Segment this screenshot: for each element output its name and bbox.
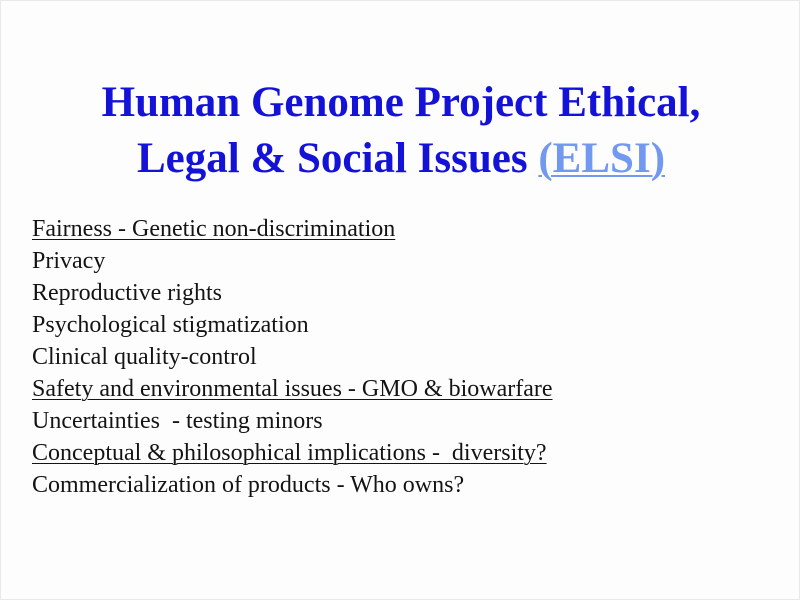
slide-title: Human Genome Project Ethical, Legal & So…	[1, 74, 800, 187]
list-item: Safety and environmental issues - GMO & …	[32, 373, 752, 405]
list-item-label: Fairness - Genetic non-discrimination	[32, 216, 395, 242]
list-item-label: Clinical quality-control	[32, 344, 257, 370]
elsi-link[interactable]: (ELSI)	[538, 135, 665, 182]
slide-title-line-2: Legal & Social Issues (ELSI)	[1, 130, 800, 187]
issues-list: Fairness - Genetic non-discrimination Pr…	[32, 213, 752, 501]
list-item-label: Privacy	[32, 248, 105, 274]
list-item: Uncertainties - testing minors	[32, 405, 752, 437]
list-item: Reproductive rights	[32, 277, 752, 309]
list-item: Commercialization of products - Who owns…	[32, 469, 752, 501]
list-item-label: Reproductive rights	[32, 280, 222, 306]
list-item-label: Uncertainties - testing minors	[32, 408, 323, 434]
list-item: Privacy	[32, 245, 752, 277]
list-item: Psychological stigmatization	[32, 309, 752, 341]
list-item-label: Conceptual & philosophical implications …	[32, 440, 547, 466]
list-item-label: Safety and environmental issues - GMO & …	[32, 376, 553, 402]
list-item: Fairness - Genetic non-discrimination	[32, 213, 752, 245]
list-item-label: Psychological stigmatization	[32, 312, 309, 338]
list-item: Clinical quality-control	[32, 341, 752, 373]
slide-title-line-2-text: Legal & Social Issues	[137, 135, 538, 182]
presentation-slide: Human Genome Project Ethical, Legal & So…	[0, 0, 800, 600]
slide-title-line-1: Human Genome Project Ethical,	[1, 74, 800, 131]
list-item-label: Commercialization of products - Who owns…	[32, 472, 464, 498]
list-item: Conceptual & philosophical implications …	[32, 437, 752, 469]
